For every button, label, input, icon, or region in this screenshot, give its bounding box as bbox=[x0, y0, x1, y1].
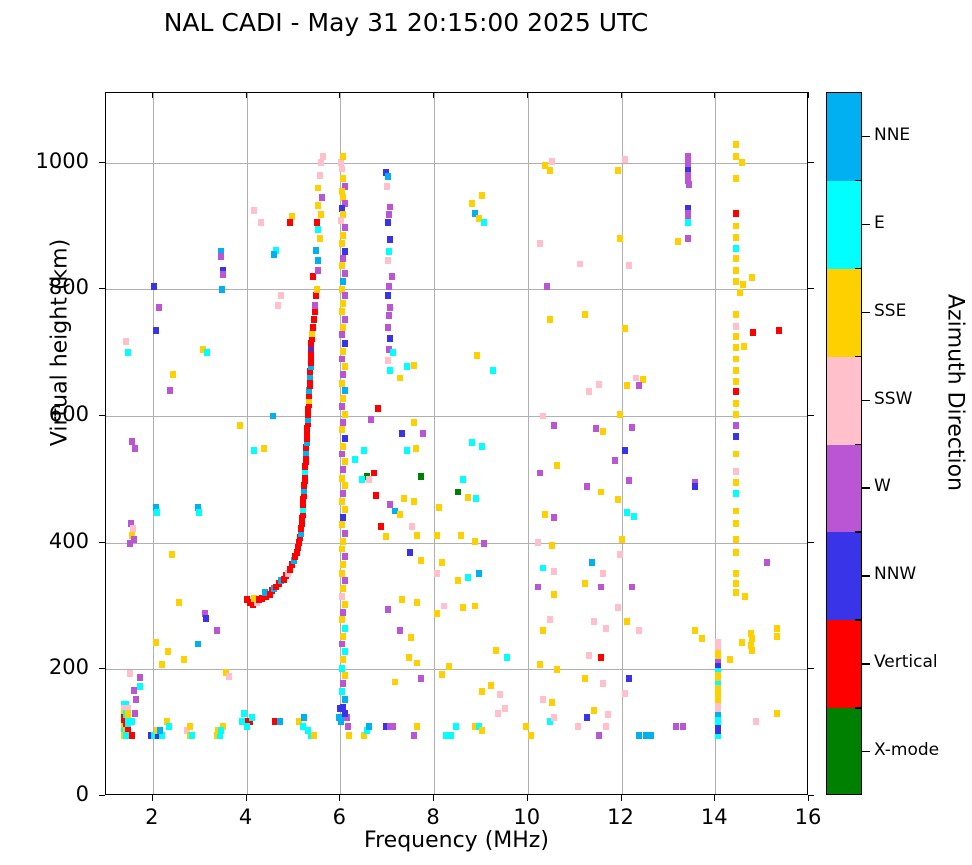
colorbar-label-e: E bbox=[874, 213, 885, 233]
data-point bbox=[626, 262, 632, 269]
data-point bbox=[460, 604, 466, 611]
data-point bbox=[385, 357, 391, 364]
data-point bbox=[397, 627, 403, 634]
data-point bbox=[311, 732, 317, 739]
data-point bbox=[733, 589, 739, 596]
data-point bbox=[420, 430, 426, 437]
data-point bbox=[605, 711, 611, 718]
data-point bbox=[165, 648, 171, 655]
data-point bbox=[339, 521, 345, 528]
data-point bbox=[414, 532, 420, 539]
data-point bbox=[733, 433, 739, 440]
data-point bbox=[339, 498, 345, 505]
data-point bbox=[387, 204, 393, 211]
data-point bbox=[749, 635, 755, 642]
data-point bbox=[342, 340, 348, 347]
data-point bbox=[167, 387, 173, 394]
data-point bbox=[342, 316, 348, 323]
data-point bbox=[249, 714, 255, 721]
data-point bbox=[340, 538, 346, 545]
data-point bbox=[386, 248, 392, 255]
data-point bbox=[615, 167, 621, 174]
data-point bbox=[339, 240, 345, 247]
data-point bbox=[774, 633, 780, 640]
data-point bbox=[733, 570, 739, 577]
data-point bbox=[596, 381, 602, 388]
x-tick-label: 6 bbox=[309, 805, 369, 829]
data-point bbox=[455, 489, 461, 496]
data-point bbox=[342, 248, 348, 255]
data-point bbox=[312, 302, 318, 309]
y-axis-title: Virtual height (km) bbox=[48, 183, 73, 503]
data-point bbox=[237, 422, 243, 429]
data-point bbox=[598, 654, 604, 661]
data-point bbox=[389, 273, 395, 280]
x-tick-top bbox=[621, 92, 622, 98]
data-point bbox=[359, 476, 365, 483]
data-point bbox=[414, 599, 420, 606]
data-point bbox=[733, 267, 739, 274]
colorbar-label-nne: NNE bbox=[874, 125, 910, 145]
data-point bbox=[551, 422, 557, 429]
data-point bbox=[686, 181, 692, 188]
y-tick bbox=[99, 415, 105, 416]
data-point bbox=[317, 172, 323, 179]
y-tick-right bbox=[808, 415, 814, 416]
data-point bbox=[596, 732, 602, 739]
data-point bbox=[542, 511, 548, 518]
data-point bbox=[397, 511, 403, 518]
data-point bbox=[339, 403, 345, 410]
data-point bbox=[733, 141, 739, 148]
data-point bbox=[340, 395, 346, 402]
data-point bbox=[446, 663, 452, 670]
data-point bbox=[385, 292, 391, 299]
data-point bbox=[619, 536, 625, 543]
data-point bbox=[137, 683, 143, 690]
data-point bbox=[368, 416, 374, 423]
y-tick-right bbox=[808, 162, 814, 163]
data-point bbox=[692, 627, 698, 634]
data-point bbox=[740, 281, 746, 288]
x-tick-top bbox=[714, 92, 715, 98]
colorbar-tick bbox=[862, 312, 870, 313]
colorbar-boundary-tick bbox=[855, 619, 862, 620]
y-tick-right bbox=[808, 542, 814, 543]
colorbar-tick bbox=[862, 400, 870, 401]
data-point bbox=[153, 327, 159, 334]
data-point bbox=[479, 443, 485, 450]
data-point bbox=[339, 593, 345, 600]
data-point bbox=[540, 627, 546, 634]
data-point bbox=[251, 447, 257, 454]
colorbar-label-ssw: SSW bbox=[874, 389, 912, 409]
data-point bbox=[204, 349, 210, 356]
data-point bbox=[271, 251, 277, 258]
data-point bbox=[624, 618, 630, 625]
data-point bbox=[465, 494, 471, 501]
data-point bbox=[469, 439, 475, 446]
data-point bbox=[626, 477, 632, 484]
colorbar-segment-vertical bbox=[827, 620, 861, 708]
colorbar-label-nnw: NNW bbox=[874, 564, 916, 584]
data-point bbox=[411, 498, 417, 505]
scatter-data-layer bbox=[106, 93, 807, 794]
data-point bbox=[680, 723, 686, 730]
data-point bbox=[340, 609, 346, 616]
data-point bbox=[774, 625, 780, 632]
data-point bbox=[685, 219, 691, 226]
data-point bbox=[314, 219, 320, 226]
colorbar-boundary-tick bbox=[855, 180, 862, 181]
data-point bbox=[315, 185, 321, 192]
colorbar-segment-nne bbox=[827, 93, 861, 181]
data-point bbox=[479, 727, 485, 734]
colorbar-boundary-tick bbox=[855, 268, 862, 269]
x-tick-label: 8 bbox=[403, 805, 463, 829]
data-point bbox=[313, 292, 319, 299]
data-point bbox=[339, 451, 345, 458]
data-point bbox=[131, 687, 137, 694]
data-point bbox=[631, 513, 637, 520]
data-point bbox=[340, 371, 346, 378]
data-point bbox=[313, 247, 319, 254]
y-tick-right bbox=[808, 795, 814, 796]
data-point bbox=[385, 257, 391, 264]
data-point bbox=[305, 727, 311, 734]
data-point bbox=[727, 656, 733, 663]
data-point bbox=[629, 584, 635, 591]
x-tick-top bbox=[808, 92, 809, 98]
data-point bbox=[540, 413, 546, 420]
data-point bbox=[715, 639, 721, 646]
data-point bbox=[129, 718, 135, 725]
x-tick-label: 10 bbox=[497, 805, 557, 829]
ionogram-figure: NAL CADI - May 31 20:15:00 2025 UTC 2468… bbox=[0, 0, 972, 865]
y-tick-label: 0 bbox=[9, 782, 89, 806]
data-point bbox=[127, 540, 133, 547]
y-tick bbox=[99, 162, 105, 163]
data-point bbox=[733, 520, 739, 527]
data-point bbox=[404, 363, 410, 370]
data-point bbox=[598, 584, 604, 591]
colorbar-segment-nnw bbox=[827, 532, 861, 620]
data-point bbox=[554, 462, 560, 469]
data-point bbox=[339, 665, 345, 672]
data-point bbox=[176, 599, 182, 606]
colorbar-boundary-tick bbox=[855, 444, 862, 445]
data-point bbox=[314, 286, 320, 293]
data-point bbox=[244, 723, 250, 730]
data-point bbox=[386, 211, 392, 218]
data-point bbox=[549, 542, 555, 549]
data-point bbox=[387, 335, 393, 342]
y-tick-right bbox=[808, 668, 814, 669]
data-point bbox=[125, 349, 131, 356]
data-point bbox=[404, 447, 410, 454]
data-point bbox=[340, 514, 346, 521]
data-point bbox=[469, 200, 475, 207]
data-point bbox=[339, 688, 345, 695]
colorbar-segment-sse bbox=[827, 269, 861, 357]
data-point bbox=[378, 523, 384, 530]
data-point bbox=[436, 504, 442, 511]
data-point bbox=[502, 705, 508, 712]
data-point bbox=[750, 329, 756, 336]
data-point bbox=[241, 710, 247, 717]
x-tick-top bbox=[339, 92, 340, 98]
data-point bbox=[733, 210, 739, 217]
data-point bbox=[196, 509, 202, 516]
data-point bbox=[554, 666, 560, 673]
data-point bbox=[453, 723, 459, 730]
x-tick bbox=[152, 795, 153, 801]
colorbar-tick bbox=[862, 224, 870, 225]
data-point bbox=[342, 411, 348, 418]
data-point bbox=[342, 530, 348, 537]
data-point bbox=[624, 382, 630, 389]
data-point bbox=[319, 194, 325, 201]
data-point bbox=[373, 492, 379, 499]
data-point bbox=[418, 473, 424, 480]
data-point bbox=[154, 509, 160, 516]
data-point bbox=[575, 723, 581, 730]
data-point bbox=[214, 627, 220, 634]
data-point bbox=[733, 388, 739, 395]
data-point bbox=[309, 330, 315, 337]
data-point bbox=[342, 625, 348, 632]
data-point bbox=[361, 447, 367, 454]
colorbar-boundary-tick bbox=[855, 531, 862, 532]
x-tick bbox=[339, 795, 340, 801]
y-tick-label: 1000 bbox=[9, 149, 89, 173]
colorbar-label-w: W bbox=[874, 476, 891, 496]
data-point bbox=[774, 710, 780, 717]
data-point bbox=[636, 732, 642, 739]
data-point bbox=[617, 551, 623, 558]
data-point bbox=[301, 714, 307, 721]
colorbar-tick bbox=[862, 136, 870, 137]
data-point bbox=[439, 671, 445, 678]
data-point bbox=[504, 654, 510, 661]
data-point bbox=[340, 585, 346, 592]
data-point bbox=[411, 362, 417, 369]
data-point bbox=[339, 331, 345, 338]
data-point bbox=[339, 262, 345, 269]
data-point bbox=[675, 238, 681, 245]
colorbar-boundary-tick bbox=[855, 356, 862, 357]
data-point bbox=[749, 647, 755, 654]
data-point bbox=[584, 714, 590, 721]
data-point bbox=[258, 219, 264, 226]
data-point bbox=[342, 482, 348, 489]
y-tick bbox=[99, 795, 105, 796]
data-point bbox=[547, 316, 553, 323]
data-point bbox=[384, 183, 390, 190]
colorbar-segment-e bbox=[827, 181, 861, 269]
data-point bbox=[342, 672, 348, 679]
data-point bbox=[612, 457, 618, 464]
data-point bbox=[340, 466, 346, 473]
data-point bbox=[733, 422, 739, 429]
data-point bbox=[311, 316, 317, 323]
data-point bbox=[342, 648, 348, 655]
data-point bbox=[733, 580, 739, 587]
data-point bbox=[439, 559, 445, 566]
plot-area bbox=[105, 92, 808, 795]
data-point bbox=[411, 732, 417, 739]
x-tick bbox=[433, 795, 434, 801]
data-point bbox=[598, 489, 604, 496]
data-point bbox=[385, 173, 391, 180]
data-point bbox=[733, 311, 739, 318]
data-point bbox=[636, 627, 642, 634]
data-point bbox=[277, 718, 283, 725]
data-point bbox=[615, 604, 621, 611]
data-point bbox=[418, 557, 424, 564]
colorbar-label-vertical: Vertical bbox=[874, 652, 938, 672]
data-point bbox=[692, 483, 698, 490]
data-point bbox=[366, 476, 372, 483]
x-tick bbox=[527, 795, 528, 801]
data-point bbox=[733, 378, 739, 385]
data-point bbox=[589, 559, 595, 566]
data-point bbox=[315, 267, 321, 274]
data-point bbox=[528, 732, 534, 739]
data-point bbox=[195, 641, 201, 648]
data-point bbox=[551, 591, 557, 598]
y-tick-label: 200 bbox=[9, 655, 89, 679]
data-point bbox=[218, 253, 224, 260]
data-point bbox=[476, 570, 482, 577]
x-tick bbox=[714, 795, 715, 801]
data-point bbox=[137, 674, 143, 681]
data-point bbox=[397, 375, 403, 382]
data-point bbox=[733, 344, 739, 351]
data-point bbox=[386, 312, 392, 319]
data-point bbox=[340, 680, 346, 687]
data-point bbox=[600, 570, 606, 577]
data-point bbox=[685, 235, 691, 242]
x-tick-label: 12 bbox=[591, 805, 651, 829]
x-tick bbox=[621, 795, 622, 801]
data-point bbox=[340, 175, 346, 182]
colorbar-segment-ssw bbox=[827, 357, 861, 445]
data-point bbox=[387, 236, 393, 243]
data-point bbox=[749, 274, 755, 281]
data-point bbox=[342, 292, 348, 299]
data-point bbox=[390, 349, 396, 356]
data-point bbox=[414, 660, 420, 667]
data-point bbox=[547, 616, 553, 623]
data-point bbox=[479, 192, 485, 199]
data-point bbox=[127, 670, 133, 677]
data-point bbox=[340, 704, 346, 711]
data-point bbox=[340, 419, 346, 426]
data-point bbox=[366, 723, 372, 730]
data-point bbox=[123, 732, 129, 739]
data-point bbox=[603, 723, 609, 730]
data-point bbox=[699, 635, 705, 642]
x-tick-top bbox=[246, 92, 247, 98]
data-point bbox=[733, 356, 739, 363]
data-point bbox=[414, 723, 420, 730]
data-point bbox=[339, 166, 345, 173]
data-point bbox=[737, 289, 743, 296]
data-point bbox=[586, 388, 592, 395]
data-point bbox=[315, 226, 321, 233]
data-point bbox=[617, 235, 623, 242]
data-point bbox=[733, 255, 739, 262]
data-point bbox=[317, 235, 323, 242]
data-point bbox=[219, 286, 225, 293]
data-point bbox=[123, 338, 129, 345]
data-point bbox=[742, 593, 748, 600]
data-point bbox=[169, 551, 175, 558]
data-point bbox=[413, 445, 419, 452]
data-point bbox=[339, 380, 345, 387]
data-point bbox=[339, 308, 345, 315]
data-point bbox=[549, 699, 555, 706]
data-point bbox=[346, 732, 352, 739]
figure-title: NAL CADI - May 31 20:15:00 2025 UTC bbox=[0, 8, 812, 37]
data-point bbox=[733, 333, 739, 340]
data-point bbox=[600, 428, 606, 435]
data-point bbox=[495, 710, 501, 717]
data-point bbox=[339, 475, 345, 482]
data-point bbox=[673, 723, 679, 730]
data-point bbox=[472, 538, 478, 545]
data-point bbox=[733, 411, 739, 418]
data-point bbox=[312, 308, 318, 315]
data-point bbox=[375, 405, 381, 412]
data-point bbox=[733, 508, 739, 515]
data-point bbox=[455, 577, 461, 584]
data-point bbox=[203, 615, 209, 622]
data-point bbox=[591, 707, 597, 714]
data-point bbox=[392, 679, 398, 686]
data-point bbox=[441, 603, 447, 610]
data-point bbox=[629, 424, 635, 431]
data-point bbox=[481, 540, 487, 547]
data-point bbox=[411, 419, 417, 426]
data-point bbox=[340, 443, 346, 450]
data-point bbox=[339, 616, 345, 623]
data-point bbox=[399, 596, 405, 603]
colorbar-boundary-tick bbox=[855, 707, 862, 708]
data-point bbox=[226, 673, 232, 680]
data-point bbox=[278, 292, 284, 299]
data-point bbox=[218, 727, 224, 734]
data-point bbox=[387, 304, 393, 311]
data-point bbox=[342, 458, 348, 465]
data-point bbox=[156, 304, 162, 311]
data-point bbox=[408, 634, 414, 641]
x-tick-top bbox=[433, 92, 434, 98]
data-point bbox=[387, 367, 393, 374]
data-point bbox=[189, 732, 195, 739]
data-point bbox=[633, 375, 639, 382]
data-point bbox=[352, 456, 358, 463]
colorbar-tick bbox=[862, 663, 870, 664]
data-point bbox=[409, 523, 415, 530]
data-point bbox=[342, 224, 348, 231]
data-point bbox=[151, 283, 157, 290]
data-point bbox=[733, 278, 739, 285]
data-point bbox=[544, 283, 550, 290]
data-point bbox=[733, 490, 739, 497]
data-point bbox=[551, 714, 557, 721]
